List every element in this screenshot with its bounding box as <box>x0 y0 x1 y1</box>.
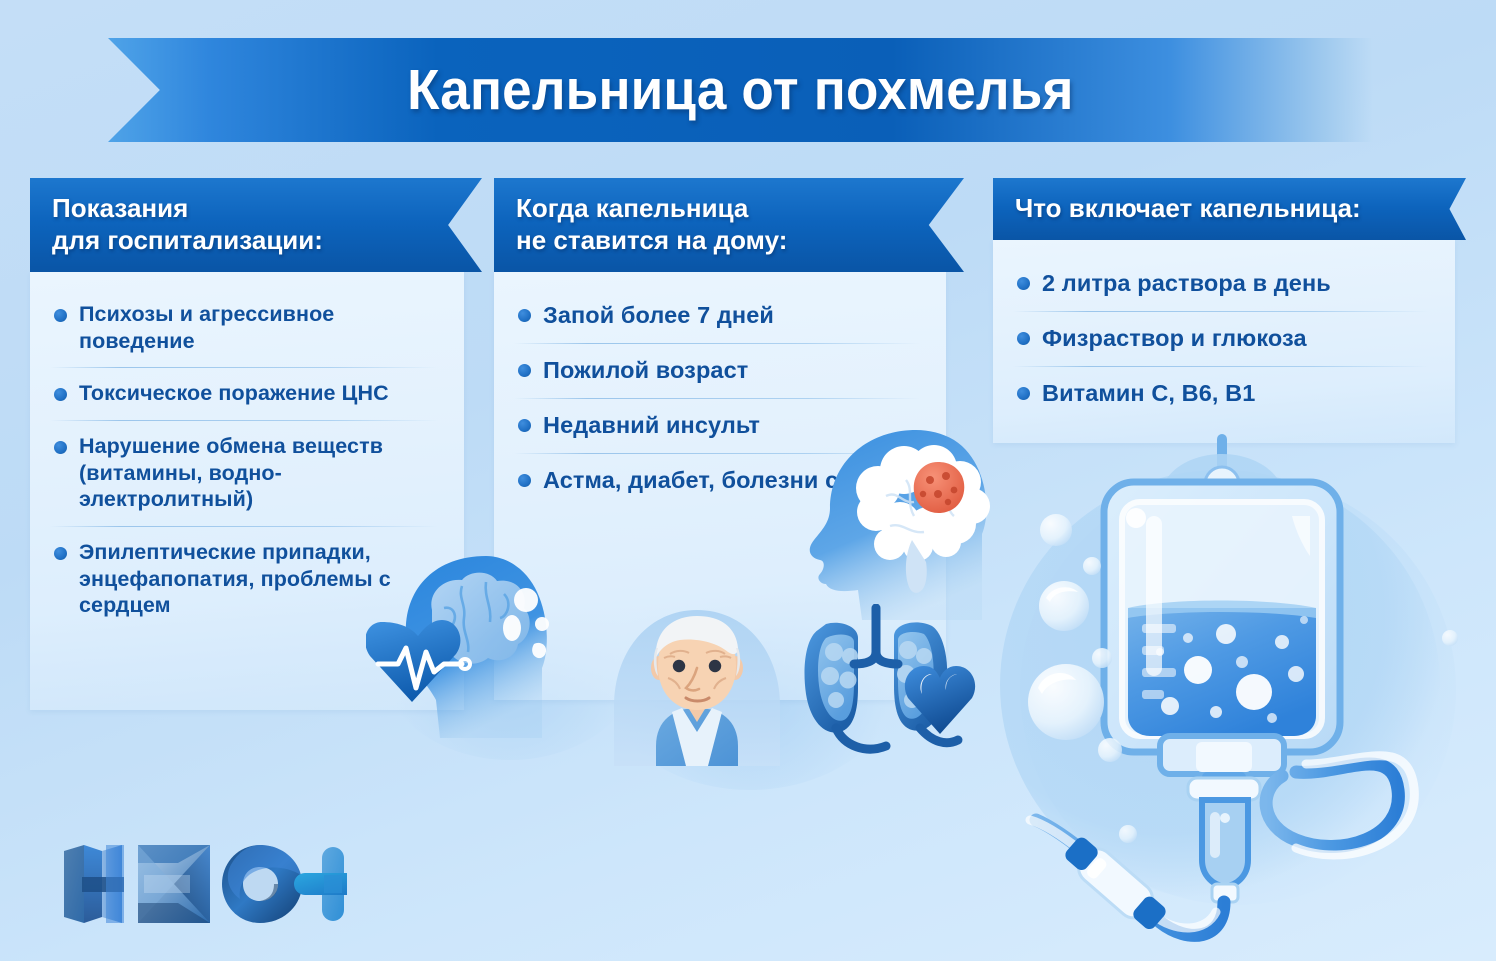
column-header-line1: Когда капельница <box>516 193 908 225</box>
column-header-hospitalization: Показания для госпитализации: <box>30 178 482 272</box>
list-item-label: Запой более 7 дней <box>543 301 774 330</box>
list-item: Физраствор и глюкоза <box>1007 311 1441 366</box>
column-body-hospitalization: Психозы и агрессивное поведение Токсичес… <box>30 272 464 710</box>
logo-letter-n <box>64 845 124 923</box>
column-header-line1: Что включает капельница: <box>1015 193 1426 225</box>
bullet-icon <box>1017 277 1030 290</box>
column-contents: Что включает капельница: 2 литра раствор… <box>993 178 1466 443</box>
list-item: Пожилой возраст <box>508 343 932 398</box>
list-item: Нарушение обмена веществ (витамины, водн… <box>44 420 450 526</box>
bullet-icon <box>54 547 67 560</box>
title-banner: Капельница от похмелья <box>108 38 1373 142</box>
list-item-label: 2 литра раствора в день <box>1042 269 1331 298</box>
bullet-icon <box>54 441 67 454</box>
column-not-at-home: Когда капельница не ставится на дому: За… <box>494 178 964 700</box>
column-header-line2: для госпитализации: <box>52 225 426 257</box>
column-header-not-at-home: Когда капельница не ставится на дому: <box>494 178 964 272</box>
list-item: Токсическое поражение ЦНС <box>44 367 450 420</box>
column-body-contents: 2 литра раствора в день Физраствор и глю… <box>993 240 1455 443</box>
logo-plus-sign <box>294 847 347 921</box>
bullet-icon <box>1017 387 1030 400</box>
background-blob-right <box>1000 470 1440 900</box>
list-item-label: Нарушение обмена веществ (витамины, водн… <box>79 433 444 513</box>
bullet-icon <box>518 419 531 432</box>
list-item-label: Эпилептические припадки, энцефапопатия, … <box>79 539 444 619</box>
list-item: Психозы и агрессивное поведение <box>44 288 450 367</box>
list-item: Эпилептические припадки, энцефапопатия, … <box>44 526 450 632</box>
list-item-label: Витамин C, B6, B1 <box>1042 379 1255 408</box>
column-body-not-at-home: Запой более 7 дней Пожилой возраст Недав… <box>494 272 946 700</box>
iv-drip-bag-icon <box>1010 420 1480 950</box>
bullet-icon <box>518 474 531 487</box>
bullet-icon <box>54 388 67 401</box>
list-item-label: Физраствор и глюкоза <box>1042 324 1307 353</box>
list-item-label: Астма, диабет, болезни сердца <box>543 466 908 495</box>
list-item: Астма, диабет, болезни сердца <box>508 453 932 508</box>
list-item: Недавний инсульт <box>508 398 932 453</box>
bullet-icon <box>518 309 531 322</box>
bullet-icon <box>54 309 67 322</box>
list-item-label: Недавний инсульт <box>543 411 760 440</box>
list-item: Запой более 7 дней <box>508 288 932 343</box>
column-header-line2: не ставится на дому: <box>516 225 908 257</box>
logo-letter-o <box>222 845 302 923</box>
list-item: Витамин C, B6, B1 <box>1007 366 1441 421</box>
bullet-icon <box>518 364 531 377</box>
page-title: Капельница от похмелья <box>407 57 1074 123</box>
column-header-contents: Что включает капельница: <box>993 178 1466 240</box>
brand-logo <box>62 843 347 925</box>
column-header-line1: Показания <box>52 193 426 225</box>
list-item-label: Пожилой возраст <box>543 356 748 385</box>
list-item-label: Психозы и агрессивное поведение <box>79 301 444 354</box>
logo-letter-e <box>138 845 210 923</box>
column-hospitalization: Показания для госпитализации: Психозы и … <box>30 178 482 710</box>
list-item-label: Токсическое поражение ЦНС <box>79 380 389 407</box>
list-item: 2 литра раствора в день <box>1007 256 1441 311</box>
bullet-icon <box>1017 332 1030 345</box>
